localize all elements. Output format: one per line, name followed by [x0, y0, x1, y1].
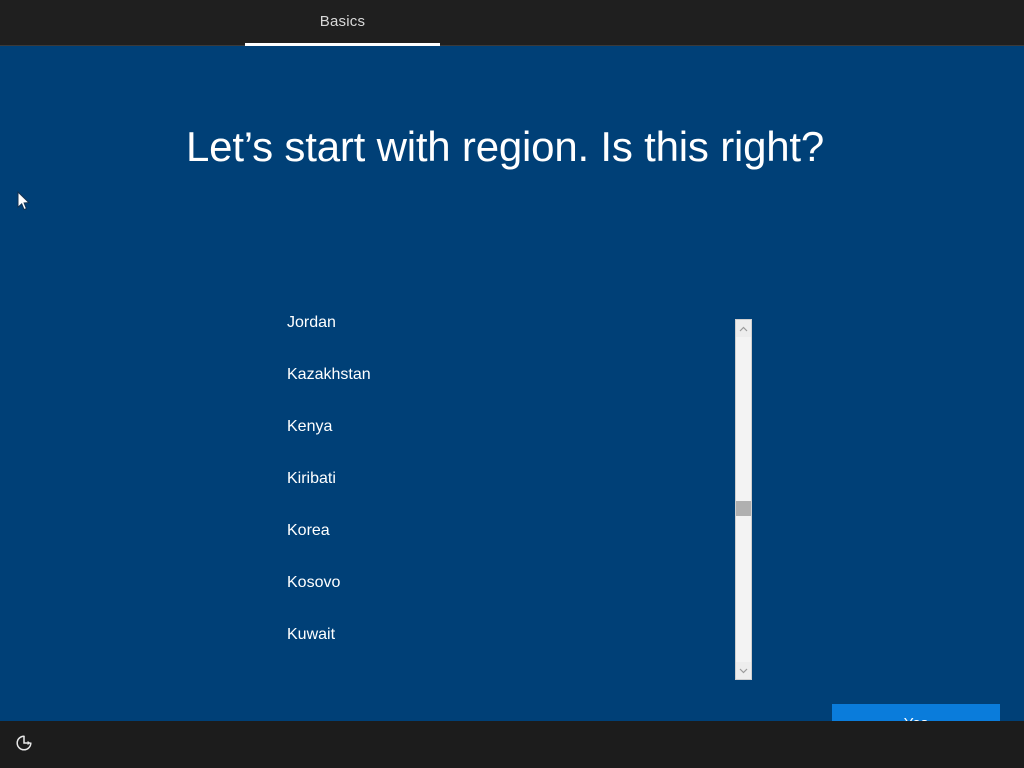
ease-of-access-button[interactable]: [8, 729, 40, 761]
scroll-up-button[interactable]: [736, 320, 751, 337]
list-item[interactable]: Jordan: [287, 297, 717, 349]
taskbar: [0, 721, 1024, 768]
scrollbar-track[interactable]: [736, 337, 751, 662]
page-title: Let’s start with region. Is this right?: [186, 121, 824, 173]
tab-basics-label: Basics: [320, 13, 365, 30]
main-content: Let’s start with region. Is this right? …: [0, 47, 1024, 721]
tab-basics[interactable]: Basics: [245, 0, 440, 46]
list-item[interactable]: Kiribati: [287, 453, 717, 505]
setup-screen: Basics Let’s start with region. Is this …: [0, 0, 1024, 768]
list-item[interactable]: Kosovo: [287, 557, 717, 609]
region-list[interactable]: Jordan Kazakhstan Kenya Kiribati Korea K…: [287, 297, 717, 642]
scrollbar-thumb[interactable]: [736, 501, 751, 516]
ease-of-access-icon: [14, 733, 34, 758]
chevron-down-icon: [739, 668, 748, 674]
list-item[interactable]: Kenya: [287, 401, 717, 453]
scroll-down-button[interactable]: [736, 662, 751, 679]
list-item[interactable]: Kazakhstan: [287, 349, 717, 401]
list-item[interactable]: Korea: [287, 505, 717, 557]
chevron-up-icon: [739, 326, 748, 332]
region-list-scrollbar[interactable]: [735, 319, 752, 680]
list-item[interactable]: Kuwait: [287, 609, 717, 661]
title-bar: Basics: [0, 0, 1024, 46]
